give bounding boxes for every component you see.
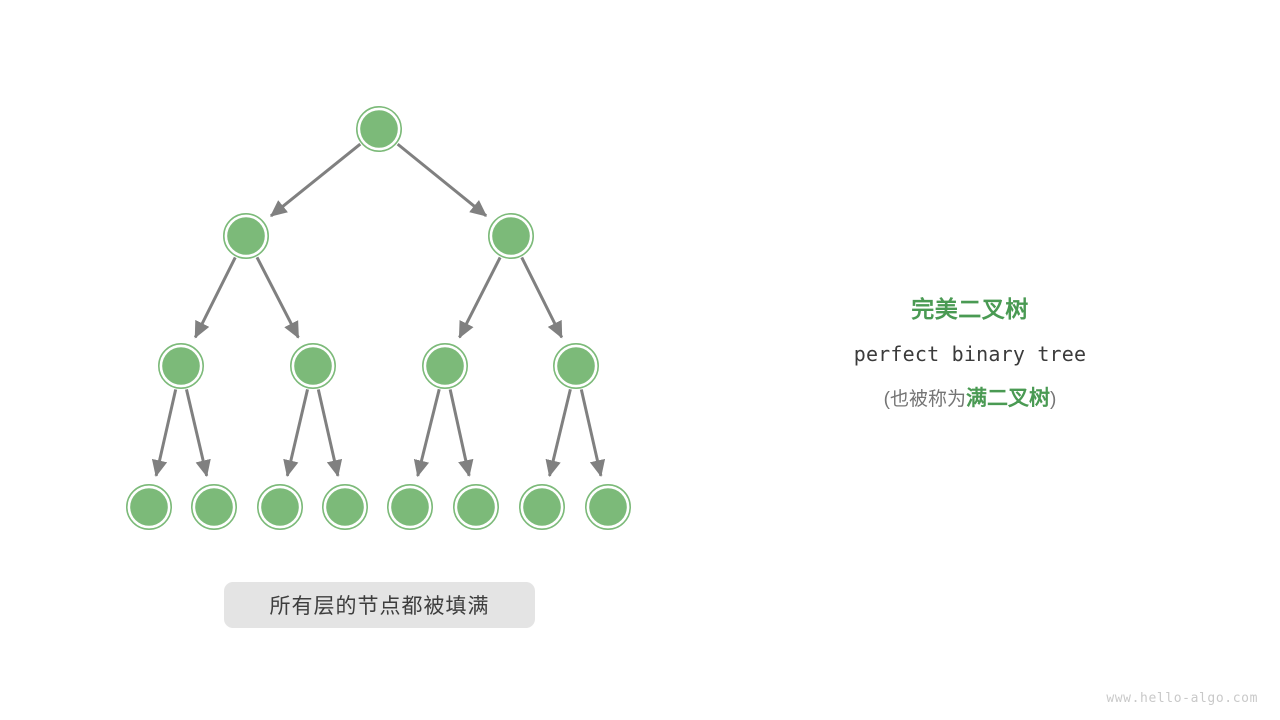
legend-block: 完美二叉树 perfect binary tree (也被称为满二叉树) (780, 292, 1160, 417)
tree-node-disc (294, 347, 332, 385)
tree-node[interactable] (127, 485, 171, 529)
tree-node[interactable] (423, 344, 467, 388)
legend-alias-suffix: ) (1050, 389, 1056, 410)
tree-edge (195, 257, 235, 337)
tree-node[interactable] (520, 485, 564, 529)
tree-node-disc (360, 110, 398, 148)
tree-node[interactable] (159, 344, 203, 388)
tree-node[interactable] (489, 214, 533, 258)
legend-subtitle: perfect binary tree (780, 337, 1160, 371)
tree-edge (257, 257, 298, 337)
tree-edge (522, 257, 562, 337)
tree-node-disc (457, 488, 495, 526)
tree-node-disc (227, 217, 265, 255)
tree-node[interactable] (224, 214, 268, 258)
tree-node[interactable] (192, 485, 236, 529)
tree-node-disc (162, 347, 200, 385)
tree-node-disc (589, 488, 627, 526)
tree-edge (450, 389, 469, 475)
tree-node-disc (557, 347, 595, 385)
tree-node[interactable] (586, 485, 630, 529)
watermark: www.hello-algo.com (1106, 691, 1258, 706)
tree-node-disc (130, 488, 168, 526)
tree-node[interactable] (291, 344, 335, 388)
tree-node-disc (523, 488, 561, 526)
tree-edge (287, 389, 307, 475)
tree-node[interactable] (323, 485, 367, 529)
tree-edge (156, 389, 176, 475)
legend-alias-prefix: (也被称为 (884, 389, 966, 410)
tree-node[interactable] (357, 107, 401, 151)
legend-alias: (也被称为满二叉树) (780, 382, 1160, 417)
tree-node[interactable] (388, 485, 432, 529)
tree-node[interactable] (258, 485, 302, 529)
tree-edge (459, 257, 500, 337)
tree-edge (581, 389, 601, 475)
caption-pill: 所有层的节点都被填满 (224, 582, 535, 628)
tree-edge (550, 389, 571, 476)
tree-node-disc (391, 488, 429, 526)
tree-node-disc (492, 217, 530, 255)
node-layer (127, 107, 630, 529)
tree-node-disc (195, 488, 233, 526)
legend-title: 完美二叉树 (780, 292, 1160, 326)
tree-edge (398, 144, 486, 216)
tree-node-disc (261, 488, 299, 526)
tree-edge (186, 389, 206, 475)
tree-edge (271, 144, 360, 216)
tree-node-disc (326, 488, 364, 526)
tree-edge (418, 389, 440, 476)
tree-node[interactable] (554, 344, 598, 388)
tree-edge (318, 389, 338, 475)
legend-alias-highlight: 满二叉树 (966, 387, 1050, 410)
tree-node[interactable] (454, 485, 498, 529)
caption-text: 所有层的节点都被填满 (270, 590, 490, 620)
diagram-canvas: 完美二叉树 perfect binary tree (也被称为满二叉树) 所有层… (0, 0, 1280, 720)
edge-layer (156, 144, 601, 476)
tree-node-disc (426, 347, 464, 385)
